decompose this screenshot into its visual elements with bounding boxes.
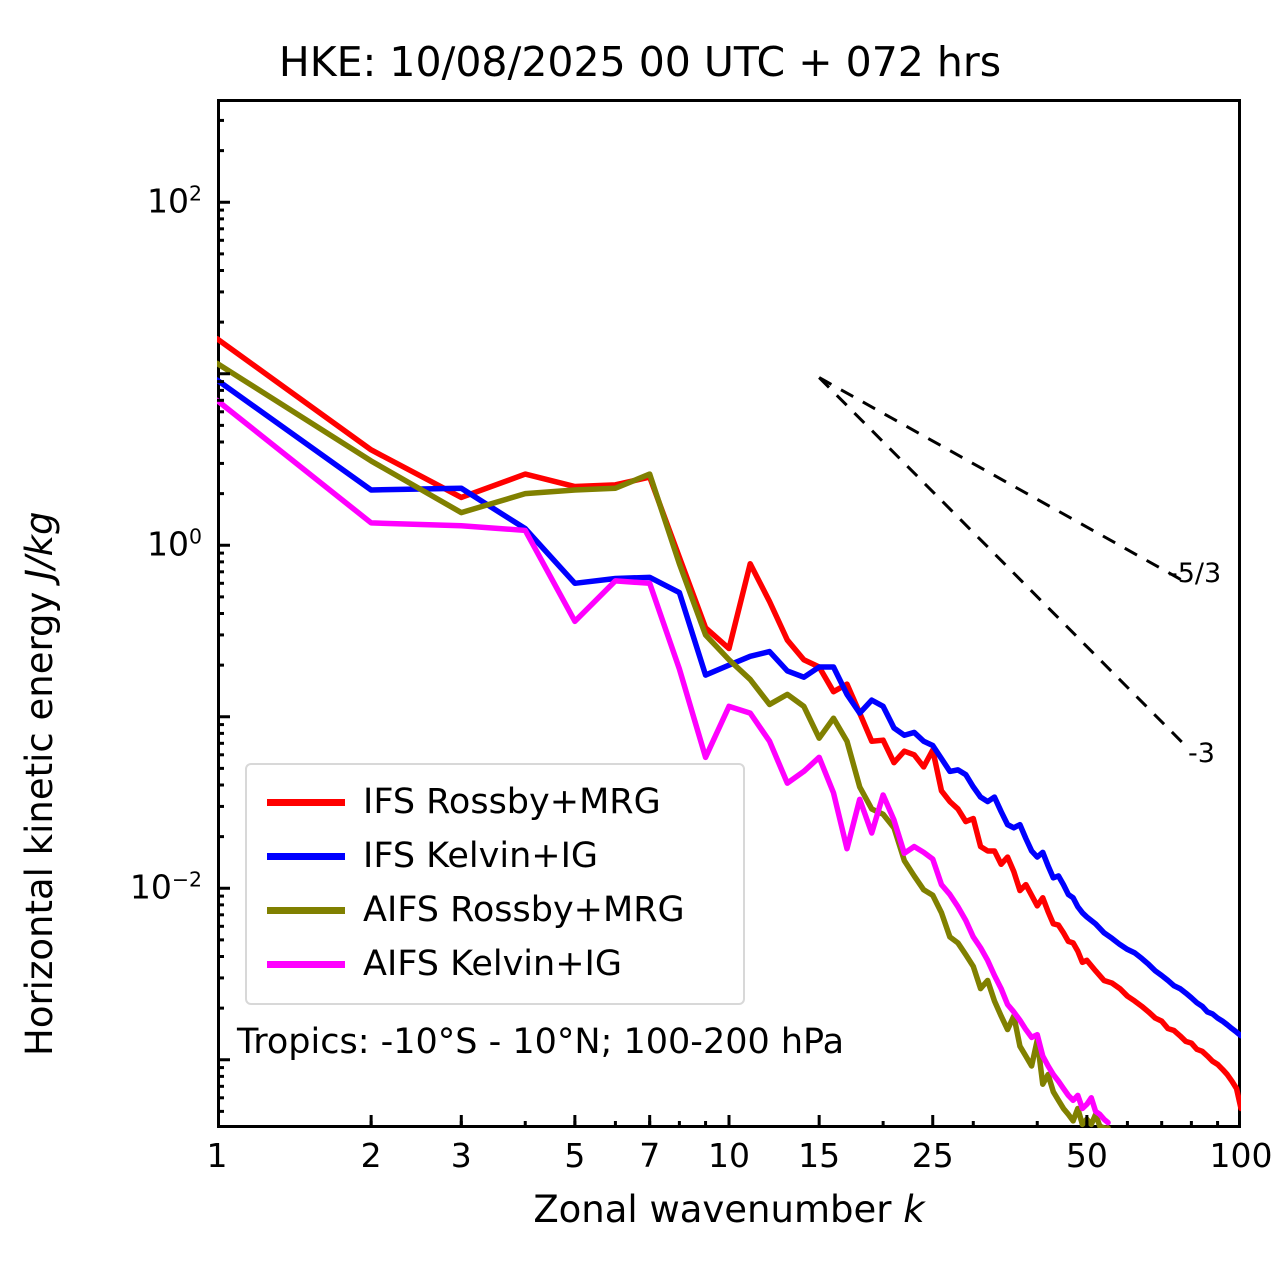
legend-item-3[interactable]: AIFS Kelvin+IG <box>261 937 729 991</box>
x-tick-label: 50 <box>1066 1136 1108 1175</box>
x-tick-label: 2 <box>361 1136 382 1175</box>
slope-label-minus-3: -3 <box>1188 738 1215 769</box>
x-axis-title-symbol: k <box>903 1188 924 1231</box>
slope-line-minus-5-3 <box>819 378 1186 583</box>
x-tick-label: 15 <box>798 1136 840 1175</box>
x-axis-title-main: Zonal wavenumber <box>533 1188 903 1231</box>
chart-title: HKE: 10/08/2025 00 UTC + 072 hrs <box>0 38 1280 86</box>
legend-swatch-2 <box>267 907 345 914</box>
series-layer <box>217 339 1241 1128</box>
y-axis-title-main: Horizontal kinetic energy <box>18 580 61 1056</box>
legend-item-1[interactable]: IFS Kelvin+IG <box>261 829 729 883</box>
y-axis-title: Horizontal kinetic energy J/kg <box>18 511 61 1055</box>
x-tick-label: 3 <box>451 1136 472 1175</box>
legend-item-0[interactable]: IFS Rossby+MRG <box>261 775 729 829</box>
x-tick-label: 5 <box>564 1136 585 1175</box>
legend[interactable]: IFS Rossby+MRGIFS Kelvin+IGAIFS Rossby+M… <box>245 763 745 1005</box>
legend-item-2[interactable]: AIFS Rossby+MRG <box>261 883 729 937</box>
slope-line-minus-3 <box>819 378 1186 746</box>
figure-root: HKE: 10/08/2025 00 UTC + 072 hrs 1021001… <box>0 0 1280 1288</box>
legend-swatch-0 <box>267 799 345 806</box>
legend-swatch-1 <box>267 853 345 860</box>
x-tick-label: 10 <box>708 1136 750 1175</box>
x-tick-label: 7 <box>639 1136 660 1175</box>
legend-label-3: AIFS Kelvin+IG <box>363 944 622 984</box>
slope-label-minus-5-3: -5/3 <box>1168 558 1221 589</box>
y-tick-label: 102 <box>147 182 202 221</box>
legend-label-1: IFS Kelvin+IG <box>363 836 598 876</box>
y-tick-label: 10−2 <box>130 868 202 907</box>
x-tick-label: 100 <box>1210 1136 1273 1175</box>
legend-label-2: AIFS Rossby+MRG <box>363 890 685 930</box>
x-tick-label: 1 <box>207 1136 228 1175</box>
y-axis-title-units: J/kg <box>18 511 61 579</box>
y-tick-label: 100 <box>147 525 202 564</box>
slope-reference-lines <box>819 378 1186 746</box>
legend-label-0: IFS Rossby+MRG <box>363 782 661 822</box>
region-annotation: Tropics: -10°S - 10°N; 100-200 hPa <box>237 1022 844 1062</box>
x-tick-label: 25 <box>912 1136 954 1175</box>
legend-swatch-3 <box>267 961 345 968</box>
x-axis-title: Zonal wavenumber k <box>217 1188 1241 1231</box>
